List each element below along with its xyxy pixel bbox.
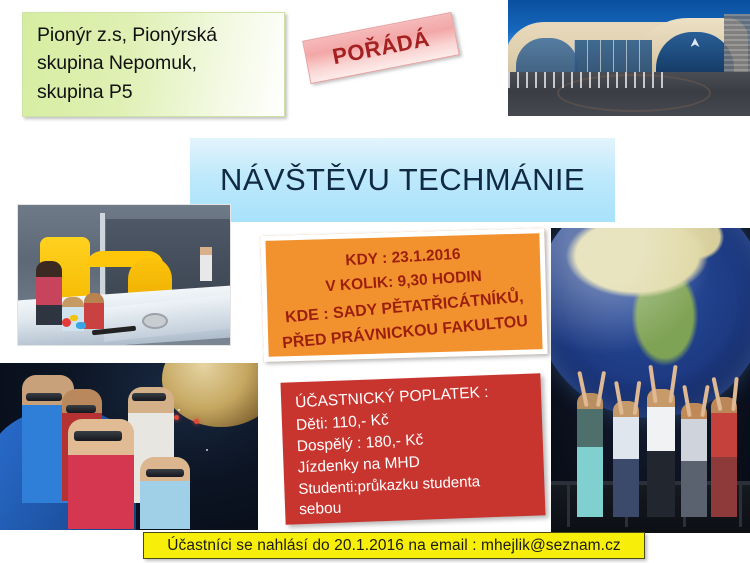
globe-rail-post: [739, 481, 742, 527]
title-band: NÁVŠTĚVU TECHMÁNIE: [190, 138, 615, 222]
techmania-logo-icon: [678, 38, 712, 54]
globe-child-2: [613, 401, 639, 517]
porada-ribbon-label: POŘÁDÁ: [330, 26, 431, 70]
earth-globe-projection-photo: [551, 228, 750, 533]
organizer-box: Pionýr z.s, Pionýrská skupina Nepomuk, s…: [22, 12, 285, 117]
star-speck: [178, 409, 180, 411]
globe-child-3: [647, 389, 675, 517]
organizer-line-1: Pionýr z.s, Pionýrská: [37, 21, 274, 49]
dome-red-light: [174, 415, 179, 420]
techmania-building-photo: [508, 0, 750, 116]
participation-fee-box: ÚČASTNICKÝ POPLATEK : Děti: 110,- Kč Dos…: [280, 373, 545, 524]
planetarium-child-5: [140, 457, 190, 529]
exhibit-yellow-ball: [70, 315, 78, 321]
page-title: NÁVŠTĚVU TECHMÁNIE: [220, 162, 585, 198]
science-center-exhibit-photo: [18, 205, 230, 345]
organizer-line-2: skupina Nepomuk,: [37, 49, 274, 77]
plaza-railing: [508, 72, 668, 88]
exhibit-visitor-far: [200, 247, 212, 281]
globe-child-4: [681, 403, 707, 517]
building-tower: [724, 14, 750, 80]
glasses-3d-icon: [66, 405, 96, 413]
exhibit-adult-visitor: [36, 261, 62, 325]
glasses-3d-icon: [26, 393, 62, 401]
glasses-3d-icon: [74, 431, 122, 441]
registration-text: Účastníci se nahlásí do 20.1.2016 na ema…: [167, 537, 621, 555]
poster-slide: Pionýr z.s, Pionýrská skupina Nepomuk, s…: [0, 0, 750, 563]
glasses-3d-icon: [146, 469, 184, 477]
exhibit-metal-pan: [142, 313, 168, 329]
porada-ribbon: POŘÁDÁ: [302, 12, 460, 84]
glasses-3d-icon: [132, 393, 166, 401]
globe-rail-post: [567, 481, 570, 527]
registration-footer: Účastníci se nahlásí do 20.1.2016 na ema…: [143, 532, 645, 559]
organizer-line-3: skupina P5: [37, 78, 274, 106]
exhibit-blue-ball: [76, 322, 86, 329]
dome-red-light: [194, 419, 199, 424]
globe-child-1: [577, 393, 603, 517]
globe-child-5: [711, 397, 737, 517]
exhibit-child-2: [84, 293, 104, 329]
planetarium-3d-glasses-photo: [0, 363, 258, 530]
star-speck: [206, 449, 208, 451]
event-details-box: KDY : 23.1.2016 V KOLIK: 9,30 HODIN KDE …: [260, 228, 547, 362]
